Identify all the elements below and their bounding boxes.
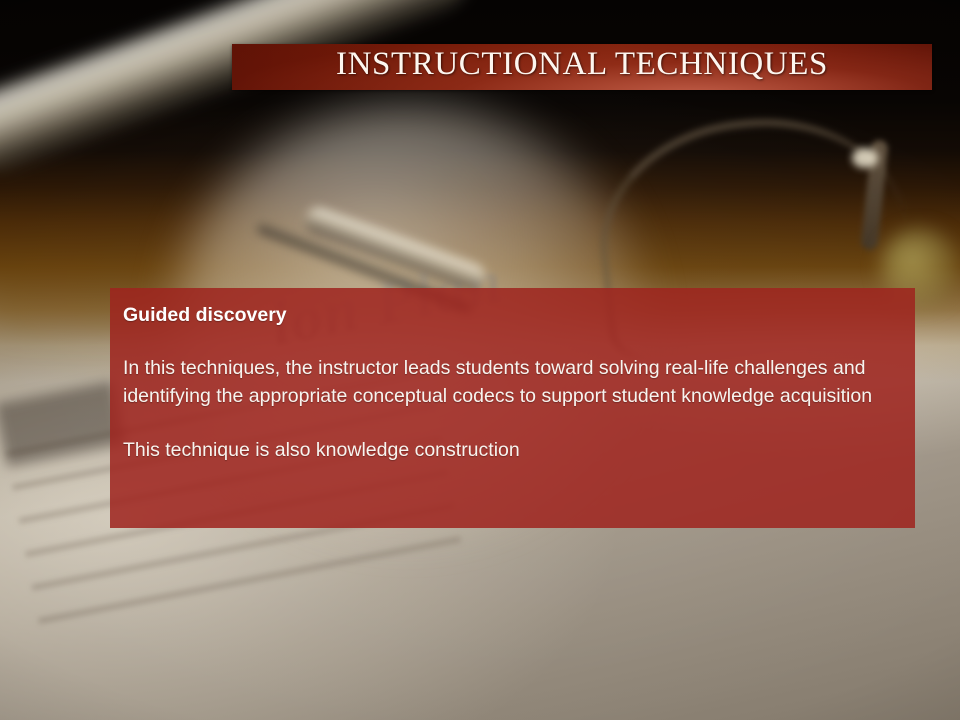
eyeglasses-screw <box>852 148 878 168</box>
content-body: Guided discovery In this techniques, the… <box>123 302 893 465</box>
content-box: Guided discovery In this techniques, the… <box>110 288 915 528</box>
content-spacer-1 <box>123 328 893 355</box>
slide-title: INSTRUCTIONAL TECHNIQUES <box>232 46 932 83</box>
content-spacer-2 <box>123 410 893 437</box>
content-paragraph-2: This technique is also knowledge constru… <box>123 437 893 465</box>
content-paragraph-1: In this techniques, the instructor leads… <box>123 355 893 410</box>
slide-canvas: ion Plan INSTRUCTIONAL TECHNIQUES Guided… <box>0 0 960 720</box>
content-heading: Guided discovery <box>123 302 893 328</box>
title-banner: INSTRUCTIONAL TECHNIQUES <box>232 44 932 90</box>
